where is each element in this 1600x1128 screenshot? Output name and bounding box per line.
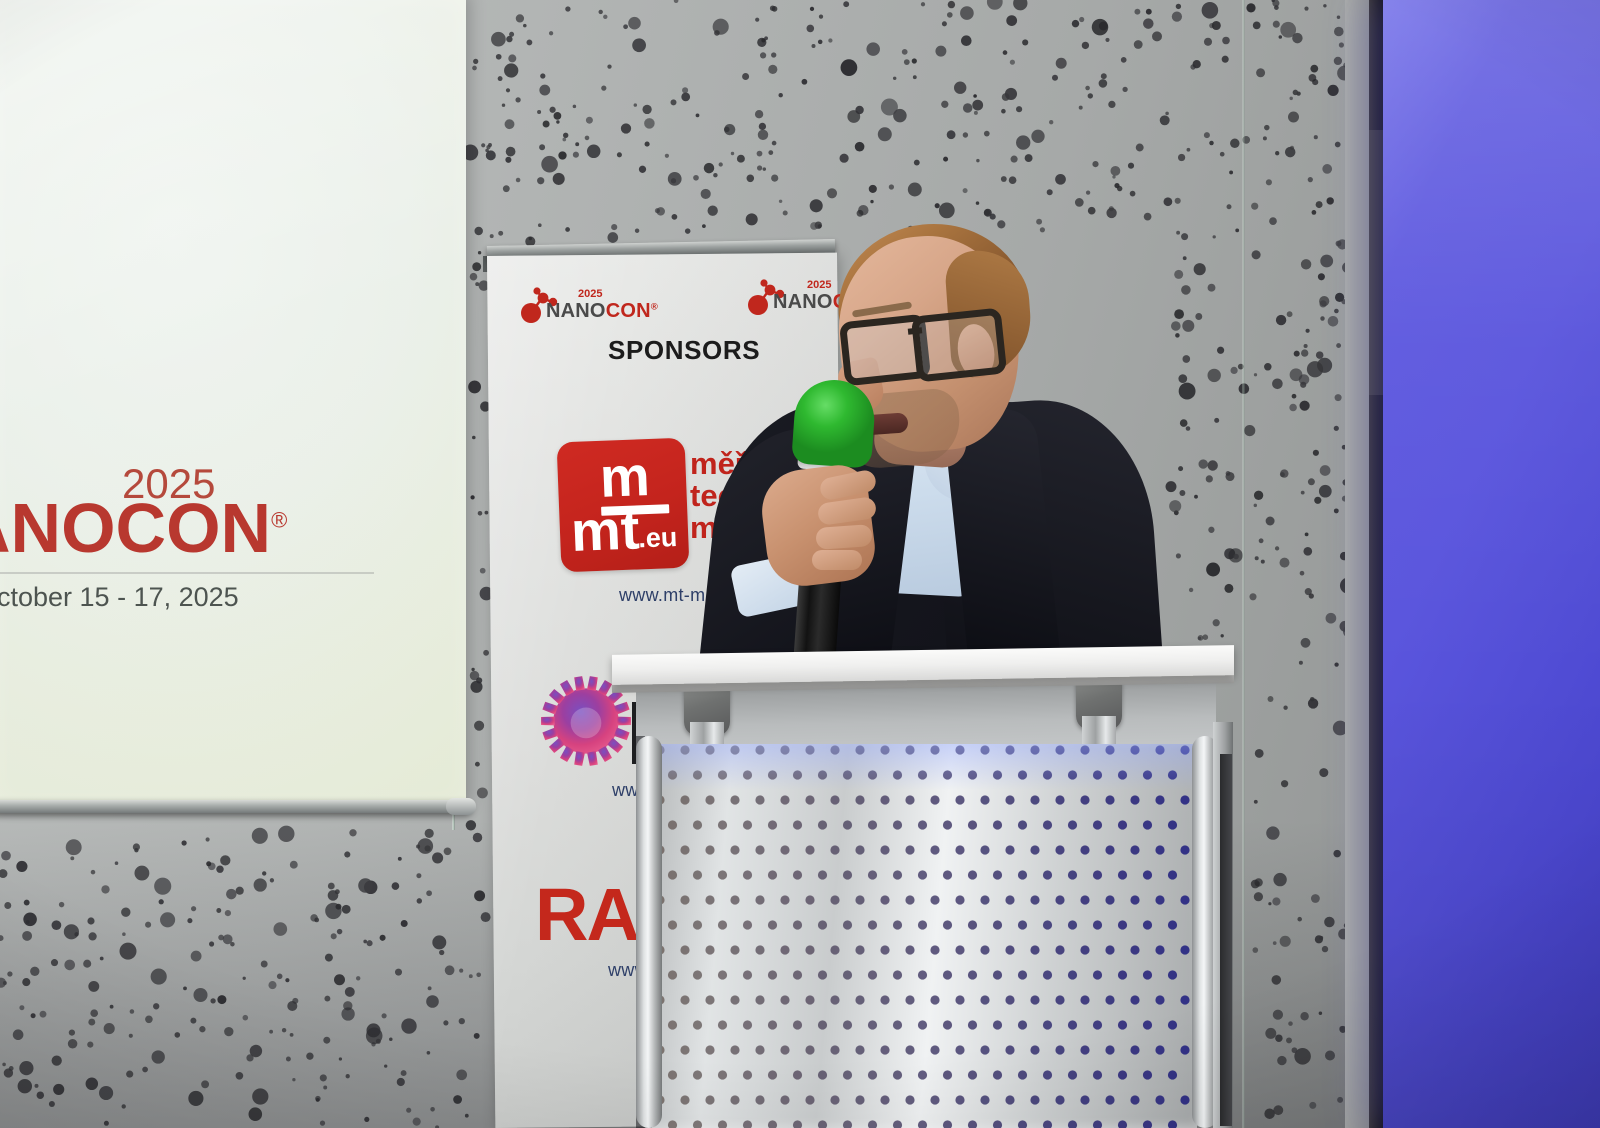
photo-canvas: 2025 ANOCON® October 15 - 17, 2025 2025 … bbox=[0, 0, 1600, 1128]
slide-title-text: ANOCON bbox=[0, 489, 271, 567]
screen-weight-bar bbox=[0, 800, 472, 813]
slide-dates: October 15 - 17, 2025 bbox=[0, 582, 239, 613]
wall-seam-right bbox=[1242, 0, 1245, 1128]
podium-perforation-grid bbox=[652, 744, 1197, 1128]
slide-divider bbox=[0, 572, 374, 574]
speaker-finger-4 bbox=[812, 550, 862, 570]
nanocon-con-left: CON bbox=[606, 300, 651, 322]
screen-glare bbox=[0, 0, 466, 806]
nanocon-year-left: 2025 bbox=[578, 288, 602, 300]
nanocon-wordmark-left: NANOCON® bbox=[546, 300, 658, 323]
slide-title: ANOCON® bbox=[0, 488, 287, 568]
mt-eu-logo-mark: m mt .eu bbox=[557, 438, 690, 573]
speaker-figure bbox=[690, 232, 1160, 682]
screen-bar-end-cap bbox=[446, 798, 476, 815]
wall-right-return bbox=[1345, 0, 1371, 1128]
blue-light-panel-gradient bbox=[1383, 0, 1600, 1128]
speaker-glasses-right-lens bbox=[911, 307, 1007, 382]
podium-post-left bbox=[636, 736, 662, 1128]
podium bbox=[612, 650, 1238, 1128]
mt-eu-suffix: .eu bbox=[638, 522, 678, 554]
mt-letters: mt bbox=[570, 501, 641, 560]
projection-screen: 2025 ANOCON® October 15 - 17, 2025 bbox=[0, 0, 466, 820]
nanocon-nano-left: NANO bbox=[546, 300, 606, 322]
podium-dark-strip bbox=[1220, 754, 1232, 1126]
speaker-finger-3 bbox=[815, 524, 872, 550]
nanocon-reg-left: ® bbox=[651, 301, 658, 312]
slide-registered-mark: ® bbox=[271, 508, 287, 533]
podium-panel-highlight bbox=[652, 744, 1197, 790]
wall-gap-highlight bbox=[1369, 130, 1384, 395]
nanocon-logo-left: 2025 NANOCON® bbox=[518, 286, 626, 328]
